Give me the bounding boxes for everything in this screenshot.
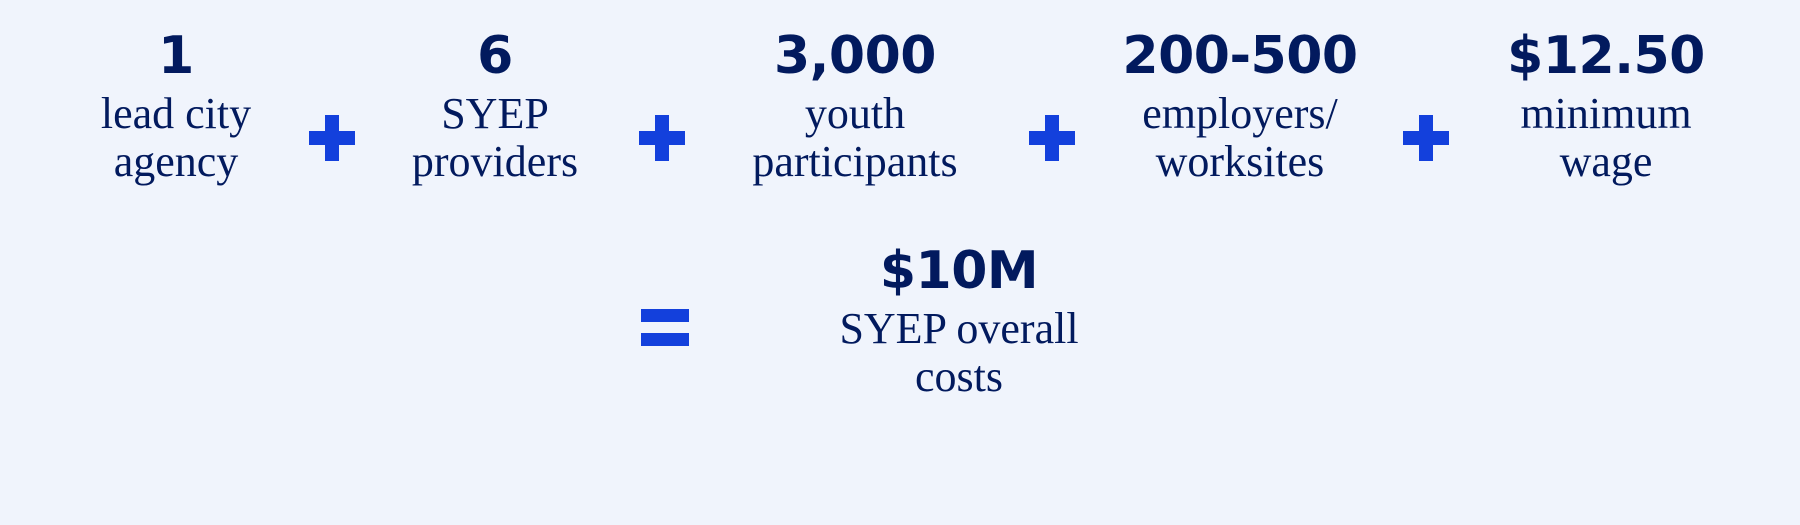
plus-icon-vertical-bar bbox=[1045, 115, 1059, 161]
equals-icon-top-bar bbox=[641, 309, 689, 322]
term-value: 200-500 bbox=[1122, 30, 1357, 82]
result-label-line-1: SYEP overall bbox=[839, 305, 1078, 353]
term-label: employers/ worksites bbox=[1142, 90, 1338, 187]
term-value: 1 bbox=[158, 30, 194, 82]
term-label: SYEP providers bbox=[412, 90, 578, 187]
equation-term-employers-worksites: 200-500 employers/ worksites bbox=[1105, 30, 1375, 187]
term-label-line-1: lead city bbox=[101, 90, 251, 138]
term-label: youth participants bbox=[752, 90, 957, 187]
plus-icon-vertical-bar bbox=[655, 115, 669, 161]
term-label: lead city agency bbox=[101, 90, 251, 187]
plus-icon-vertical-bar bbox=[1419, 115, 1433, 161]
term-value: 6 bbox=[477, 30, 513, 82]
term-label-line-2: agency bbox=[101, 138, 251, 186]
equation-term-lead-city-agency: 1 lead city agency bbox=[65, 30, 287, 187]
term-label-line-1: minimum bbox=[1520, 90, 1691, 138]
plus-icon bbox=[309, 115, 355, 161]
equals-icon-bottom-bar bbox=[641, 333, 689, 346]
plus-icon bbox=[1029, 115, 1075, 161]
plus-icon bbox=[639, 115, 685, 161]
term-label-line-1: youth bbox=[752, 90, 957, 138]
result-label: SYEP overall costs bbox=[839, 305, 1078, 402]
term-label: minimum wage bbox=[1520, 90, 1691, 187]
term-label-line-2: worksites bbox=[1142, 138, 1338, 186]
plus-icon-vertical-bar bbox=[325, 115, 339, 161]
result-row: $10M SYEP overall costs bbox=[0, 245, 1800, 402]
term-label-line-2: participants bbox=[752, 138, 957, 186]
equation-term-syep-providers: 6 SYEP providers bbox=[377, 30, 613, 187]
term-value: 3,000 bbox=[774, 30, 936, 82]
equation-term-minimum-wage: $12.50 minimum wage bbox=[1477, 30, 1735, 187]
equation-row: 1 lead city agency 6 SYEP providers bbox=[0, 0, 1800, 187]
result-label-line-2: costs bbox=[839, 353, 1078, 401]
result-value: $10M bbox=[880, 245, 1038, 297]
result-term-syep-overall-costs: $10M SYEP overall costs bbox=[759, 245, 1159, 402]
syep-cost-equation-infographic: 1 lead city agency 6 SYEP providers bbox=[0, 0, 1800, 525]
term-label-line-1: employers/ bbox=[1142, 90, 1338, 138]
term-value: $12.50 bbox=[1507, 30, 1705, 82]
term-label-line-2: wage bbox=[1520, 138, 1691, 186]
term-label-line-1: SYEP bbox=[412, 90, 578, 138]
equals-icon bbox=[641, 307, 689, 351]
plus-icon bbox=[1403, 115, 1449, 161]
term-label-line-2: providers bbox=[412, 138, 578, 186]
equation-term-youth-participants: 3,000 youth participants bbox=[711, 30, 999, 187]
